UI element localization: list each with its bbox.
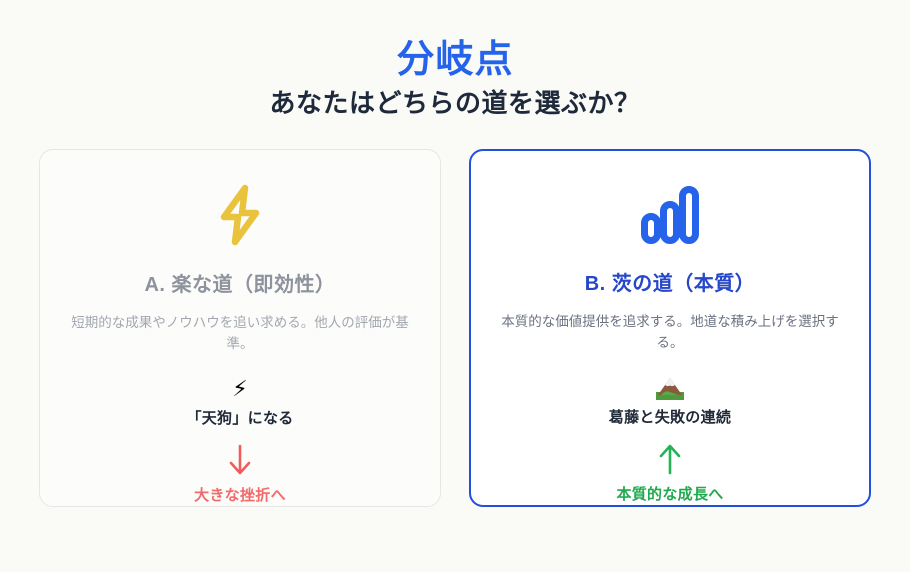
small-lightning-icon: ⚡ <box>232 377 247 401</box>
cards-row: A. 楽な道（即効性） 短期的な成果やノウハウを追い求める。他人の評価が基準。 … <box>0 149 910 507</box>
result-label-path-a: 大きな挫折へ <box>194 484 286 505</box>
page-subtitle: あなたはどちらの道を選ぶか？ <box>0 87 910 120</box>
bar-chart-icon <box>641 185 699 245</box>
outcome-block-path-a: ⚡ 「天狗」になる 大きな挫折へ <box>186 377 293 505</box>
comparison-diagram-page: 分岐点 あなたはどちらの道を選ぶか？ A. 楽な道（即効性） 短期的な成果やノウ… <box>0 0 910 572</box>
choice-card-path-b[interactable]: B. 茨の道（本質） 本質的な価値提供を追求する。地道な積み上げを選択する。 葛… <box>469 149 871 507</box>
outcome-label-path-a: 「天狗」になる <box>186 407 293 428</box>
outcome-block-path-b: 葛藤と失敗の連続 本質的な成長へ <box>609 376 731 504</box>
card-title-path-a: A. 楽な道（即効性） <box>144 268 335 297</box>
card-description-path-a: 短期的な成果やノウハウを追い求める。他人の評価が基準。 <box>64 313 416 355</box>
card-description-path-b: 本質的な価値提供を追求する。地道な積み上げを選択する。 <box>494 312 846 354</box>
outcome-label-path-b: 葛藤と失敗の連続 <box>609 406 731 427</box>
up-arrow-icon <box>657 443 683 475</box>
choice-card-path-a[interactable]: A. 楽な道（即効性） 短期的な成果やノウハウを追い求める。他人の評価が基準。 … <box>39 149 441 507</box>
mountain-icon <box>656 376 684 400</box>
page-title: 分岐点 <box>0 38 910 83</box>
result-label-path-b: 本質的な成長へ <box>616 483 723 504</box>
down-arrow-icon <box>227 444 253 476</box>
header: 分岐点 あなたはどちらの道を選ぶか？ <box>0 0 910 119</box>
lightning-bolt-icon <box>211 184 269 246</box>
card-title-path-b: B. 茨の道（本質） <box>585 267 756 296</box>
